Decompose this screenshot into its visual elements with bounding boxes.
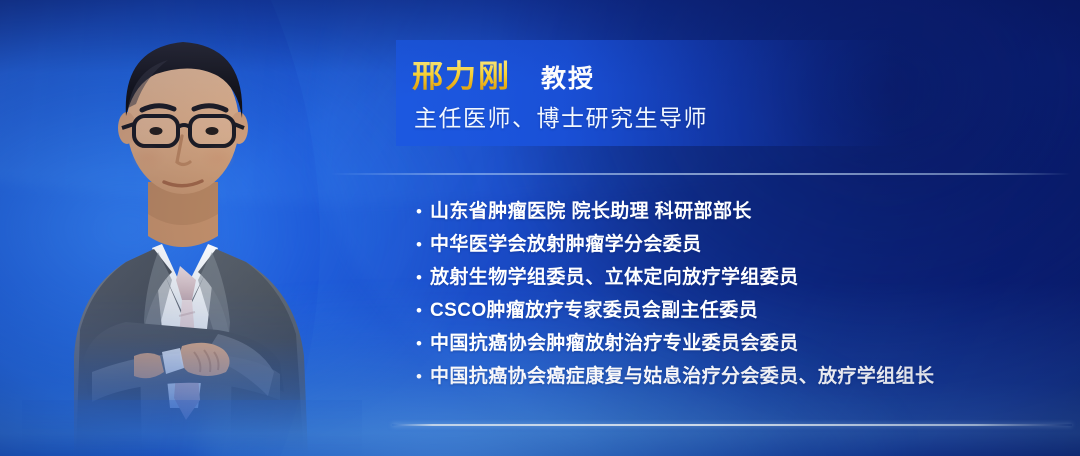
bullet-icon: •: [416, 298, 430, 324]
speaker-intro-banner: 邢力刚 教授 主任医师、博士研究生导师 • 山东省肿瘤医院 院长助理 科研部部长…: [0, 0, 1080, 456]
credentials-list: • 山东省肿瘤医院 院长助理 科研部部长 • 中华医学会放射肿瘤学分会委员 • …: [416, 199, 1056, 397]
portrait-illustration: [22, 0, 362, 456]
list-item: • CSCO肿瘤放疗专家委员会副主任委员: [416, 298, 1056, 331]
credential-text: 放射生物学组委员、立体定向放疗学组委员: [430, 265, 799, 291]
bullet-icon: •: [416, 199, 430, 225]
list-item: • 放射生物学组委员、立体定向放疗学组委员: [416, 265, 1056, 298]
bullet-icon: •: [416, 265, 430, 291]
list-item: • 中华医学会放射肿瘤学分会委员: [416, 232, 1056, 265]
credential-text: CSCO肿瘤放疗专家委员会副主任委员: [430, 298, 758, 324]
credential-text: 中国抗癌协会癌症康复与姑息治疗分会委员、放疗学组组长: [430, 364, 934, 390]
list-item: • 中国抗癌协会癌症康复与姑息治疗分会委员、放疗学组组长: [416, 364, 1056, 397]
list-item: • 山东省肿瘤医院 院长助理 科研部部长: [416, 199, 1056, 232]
credential-text: 中国抗癌协会肿瘤放射治疗专业委员会委员: [430, 331, 799, 357]
portrait-photo: [22, 0, 362, 456]
speaker-subtitle: 主任医师、博士研究生导师: [414, 99, 708, 133]
bullet-icon: •: [416, 331, 430, 357]
credential-text: 山东省肿瘤医院 院长助理 科研部部长: [430, 199, 752, 225]
speaker-honorific: 教授: [541, 59, 595, 95]
speaker-name-row: 邢力刚 教授: [412, 51, 595, 96]
speaker-name: 邢力刚: [412, 51, 511, 96]
bullet-icon: •: [416, 232, 430, 258]
list-item: • 中国抗癌协会肿瘤放射治疗专业委员会委员: [416, 331, 1056, 364]
credential-text: 中华医学会放射肿瘤学分会委员: [430, 232, 702, 258]
bullet-icon: •: [416, 364, 430, 390]
